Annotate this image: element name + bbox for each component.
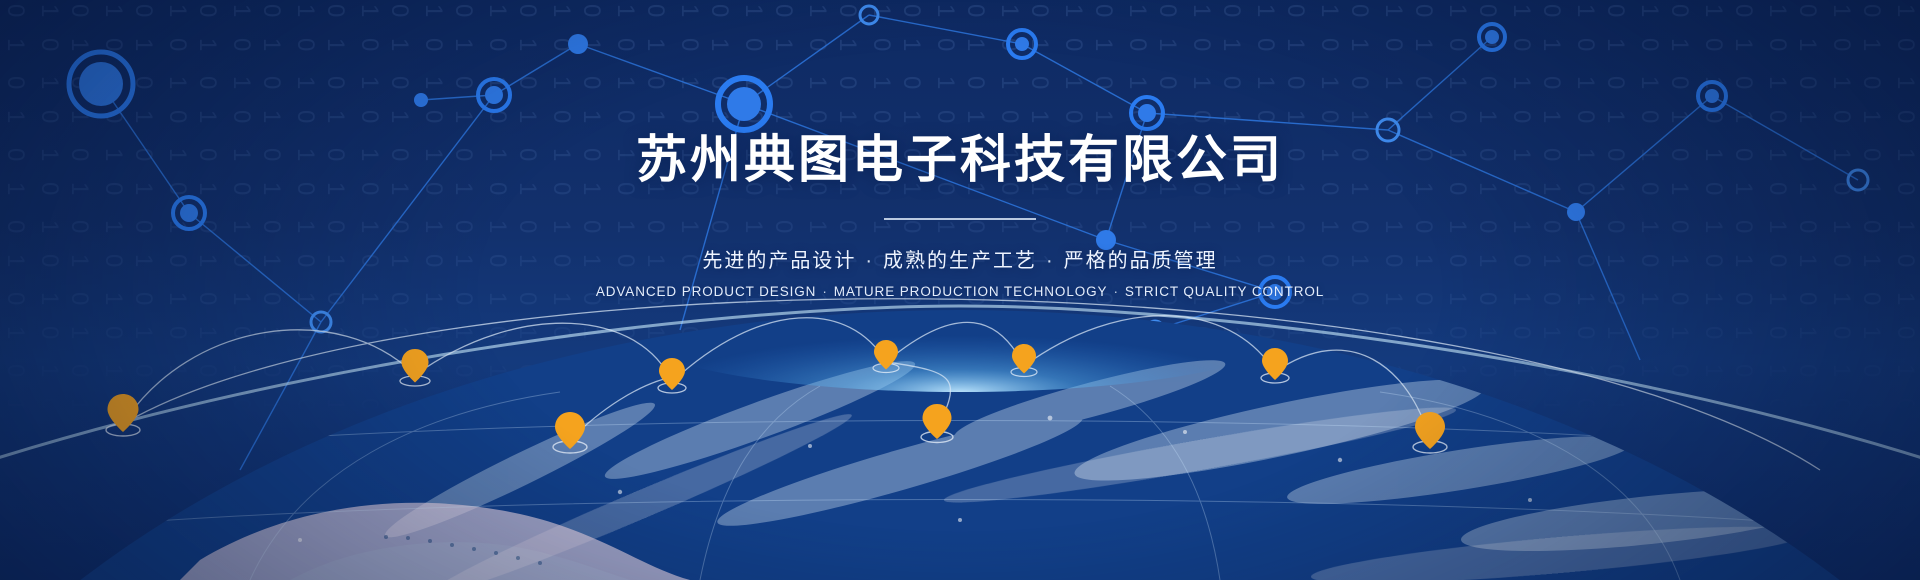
hero-banner: 1 0 0 1 bbox=[0, 0, 1920, 580]
subtitle-en-part-1: ADVANCED PRODUCT DESIGN bbox=[596, 284, 816, 299]
subtitle-en-separator-2: · bbox=[1107, 284, 1124, 299]
map-marker-icon bbox=[106, 394, 140, 436]
subtitle-cn-part-2: 成熟的生产工艺 bbox=[883, 250, 1037, 272]
subtitle-chinese: 先进的产品设计·成熟的生产工艺·严格的品质管理 bbox=[0, 244, 1920, 273]
subtitle-en-part-3: STRICT QUALITY CONTROL bbox=[1125, 284, 1324, 299]
title-divider bbox=[884, 218, 1036, 220]
banner-content: 苏州典图电子科技有限公司 先进的产品设计·成熟的生产工艺·严格的品质管理 ADV… bbox=[0, 0, 1920, 299]
subtitle-cn-part-3: 严格的品质管理 bbox=[1064, 250, 1218, 272]
page-title: 苏州典图电子科技有限公司 bbox=[0, 0, 1920, 188]
subtitle-english: ADVANCED PRODUCT DESIGN·MATURE PRODUCTIO… bbox=[0, 284, 1920, 299]
subtitle-cn-separator-1: · bbox=[856, 250, 883, 272]
subtitle-en-part-2: MATURE PRODUCTION TECHNOLOGY bbox=[834, 284, 1108, 299]
subtitle-cn-part-1: 先进的产品设计 bbox=[702, 250, 856, 272]
subtitle-en-separator-1: · bbox=[816, 284, 833, 299]
subtitle-cn-separator-2: · bbox=[1037, 250, 1064, 272]
